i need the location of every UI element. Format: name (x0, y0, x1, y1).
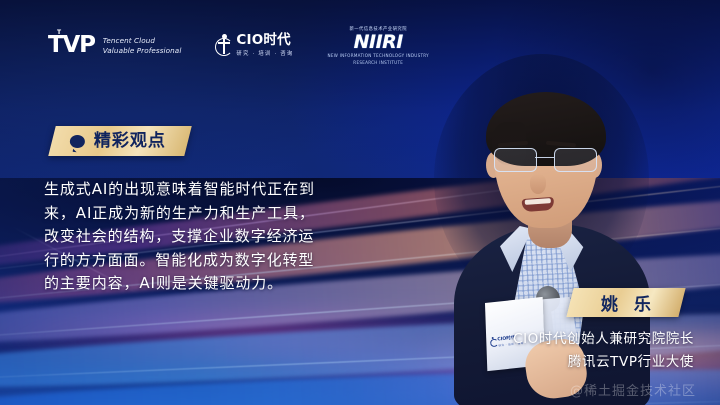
tvp-wordmark-line1: Tencent Cloud (103, 36, 182, 46)
quote-line: 的主要内容，AI则是关键驱动力。 (44, 272, 364, 296)
highlight-badge: 精彩观点 (48, 126, 191, 156)
logo-niiri: 新一代信息技术产业研究院 NIIRI NEW INFORMATION TECHN… (327, 26, 429, 65)
niiri-sub-line1: NEW INFORMATION TECHNOLOGY INDUSTRY (327, 53, 429, 59)
slide-canvas: T TVP Tencent Cloud Valuable Professiona… (0, 0, 720, 405)
tvp-mark: T TVP (48, 34, 96, 57)
quote-line: 来，AI正成为新的生产力和生产工具， (44, 202, 364, 226)
speaker-title-line: 腾讯云TVP行业大使 (513, 351, 694, 374)
cio-sub-text: 研究 · 培训 · 咨询 (236, 49, 293, 57)
quote-line: 生成式AI的出现意味着智能时代正在到 (44, 178, 364, 202)
logo-cio: CIO时代 研究 · 培训 · 咨询 (215, 34, 293, 58)
tvp-wordmark-line2: Valuable Professional (103, 46, 182, 56)
tvp-superscript: T (57, 30, 61, 36)
logo-tvp: T TVP Tencent Cloud Valuable Professiona… (48, 34, 181, 57)
highlight-badge-label: 精彩观点 (94, 133, 166, 150)
quote-line: 行的方方面面。智能化成为数字化转型 (44, 249, 364, 273)
speaker-glasses (490, 148, 602, 172)
mic-flag-person-icon (490, 337, 497, 347)
cio-person-icon (215, 34, 232, 58)
cio-mark-text: CIO时代 (236, 34, 293, 48)
quote-line: 改变社会的结构，支撑企业数字经济运 (44, 225, 364, 249)
speaker-nameplate: 姚 乐 (566, 288, 685, 317)
speaker-titles: CIO时代创始人兼研究院院长 腾讯云TVP行业大使 (513, 328, 694, 374)
niiri-mark-text: NIIRI (354, 33, 403, 52)
watermark: @稀土掘金技术社区 (570, 380, 696, 399)
speaker-nose (530, 174, 546, 194)
cio-text: CIO时代 研究 · 培训 · 咨询 (236, 34, 293, 57)
tvp-mark-text: TVP (48, 32, 95, 58)
speaker-name: 姚 乐 (596, 290, 656, 315)
tvp-wordmark: Tencent Cloud Valuable Professional (103, 36, 182, 56)
niiri-sub-line2: RESEARCH INSTITUTE (353, 60, 403, 66)
quote-block: 生成式AI的出现意味着智能时代正在到 来，AI正成为新的生产力和生产工具， 改变… (44, 178, 364, 296)
speech-bubble-icon (70, 135, 85, 148)
logo-bar: T TVP Tencent Cloud Valuable Professiona… (48, 26, 429, 65)
speaker-title-line: CIO时代创始人兼研究院院长 (513, 328, 694, 351)
